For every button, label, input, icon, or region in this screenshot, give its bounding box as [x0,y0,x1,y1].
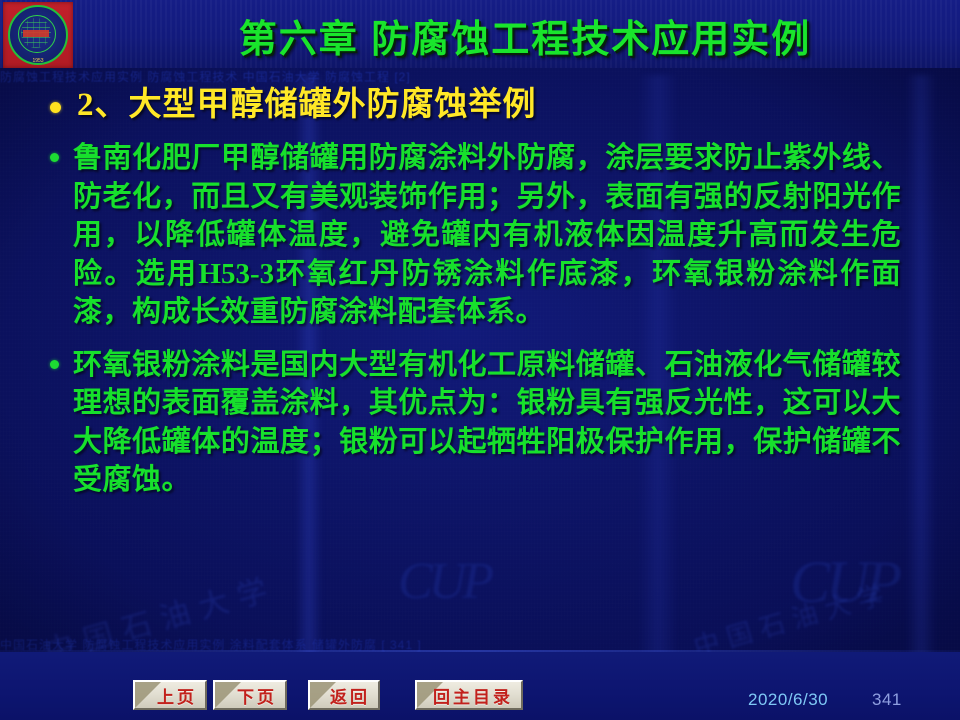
return-button[interactable]: 返回 [308,680,380,710]
bullet-dot-icon [50,153,59,162]
main-menu-button[interactable]: 回主目录 [415,680,523,710]
product-code: H53-3 [198,258,274,290]
presentation-slide: 中国石油大学 中国石油大学 CUP CUP 防腐蚀工程技术应用实例 防腐蚀工程技… [0,0,960,720]
body-paragraph: 环氧银粉涂料是国内大型有机化工原料储罐、石油液化气储罐较理想的表面覆盖涂料，其优… [73,346,901,500]
bullet-dot-icon [50,360,59,369]
next-page-button[interactable]: 下页 [213,680,287,710]
paragraph-text-part1: 环氧银粉涂料是国内大型有机化工原料储罐、石油液化气储罐较理想的表面覆盖涂料，其优… [73,349,901,497]
next-page-label: 下页 [237,683,277,708]
heading-bullet-row: 2、大型甲醇储罐外防腐蚀举例 [50,86,960,125]
prev-page-button[interactable]: 上页 [133,680,207,710]
emblem-year: 1953 [32,58,43,64]
slide-content: 2、大型甲醇储罐外防腐蚀举例 鲁南化肥厂甲醇储罐用防腐涂料外防腐，涂层要求防止紫… [0,72,960,642]
emblem-icon: 1953 [8,5,68,65]
return-label: 返回 [330,683,370,708]
university-logo: 1953 [3,2,73,68]
section-heading: 2、大型甲醇储罐外防腐蚀举例 [77,86,537,125]
page-title: 第六章 防腐蚀工程技术应用实例 [110,8,940,63]
body-paragraph: 鲁南化肥厂甲醇储罐用防腐涂料外防腐，涂层要求防止紫外线、防老化，而且又有美观装饰… [73,139,901,332]
prev-page-label: 上页 [157,683,197,708]
main-menu-label: 回主目录 [433,683,513,708]
footer-divider [0,650,960,652]
slide-date: 2020/6/30 [748,690,828,710]
slide-page-number: 341 [872,690,902,710]
paragraph-bullet-row: 鲁南化肥厂甲醇储罐用防腐涂料外防腐，涂层要求防止紫外线、防老化，而且又有美观装饰… [50,139,960,332]
bullet-dot-icon [50,102,61,113]
paragraph-bullet-row: 环氧银粉涂料是国内大型有机化工原料储罐、石油液化气储罐较理想的表面覆盖涂料，其优… [50,346,960,500]
emblem-nameplate [23,30,49,37]
